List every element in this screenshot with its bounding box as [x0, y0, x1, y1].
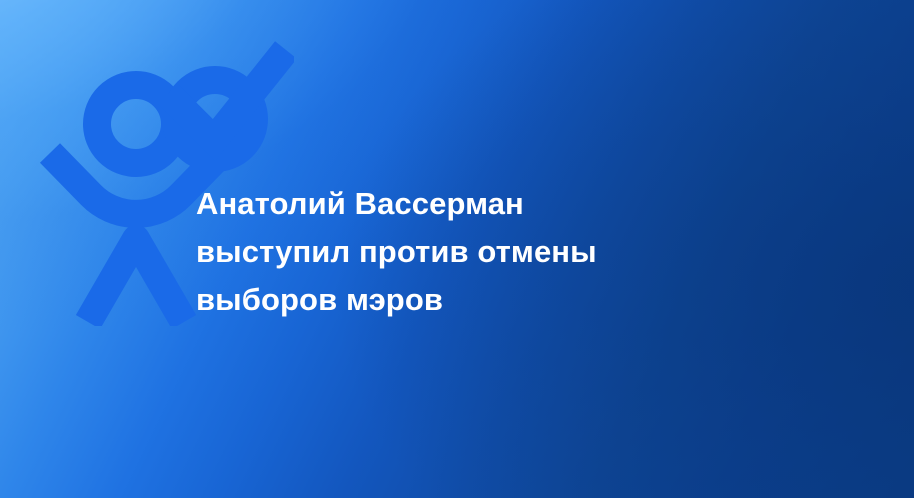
headline: Анатолий Вассерман выступил против отмен…	[196, 180, 716, 324]
social-share-card: Анатолий Вассерман выступил против отмен…	[0, 0, 914, 498]
headline-line-1: Анатолий Вассерман	[196, 180, 716, 228]
legs-chevron-shape	[88, 239, 184, 322]
headline-line-3: выборов мэров	[196, 276, 716, 324]
headline-line-2: выступил против отмены	[196, 228, 716, 276]
